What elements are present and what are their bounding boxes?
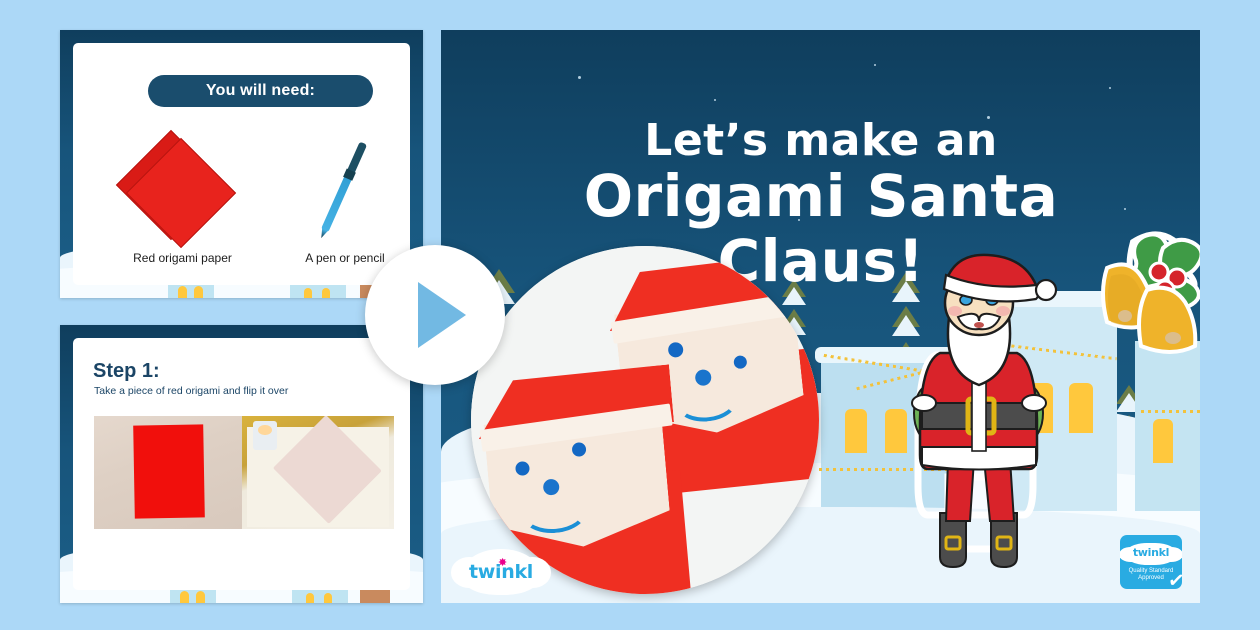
step-title: Step 1: — [93, 360, 160, 383]
check-icon: ✓ — [1167, 567, 1182, 589]
quality-standard-badge: twinkl Quality Standard Approved ✓ — [1120, 535, 1182, 589]
main-slide[interactable]: Let’s make an Origami Santa Claus! — [441, 30, 1200, 603]
play-button[interactable] — [365, 245, 505, 385]
origami-paper-icon — [120, 136, 240, 246]
badge-text-line-2: Approved — [1138, 575, 1164, 581]
bells-svg — [1089, 220, 1200, 360]
badge-cloud: twinkl — [1125, 543, 1177, 565]
slide-card: Step 1: Take a piece of red origami and … — [73, 338, 410, 590]
step-photo-row — [94, 416, 394, 529]
title-line-1: Let’s make an — [481, 118, 1161, 164]
origami-photo — [471, 246, 819, 594]
thumbnail-slide-step-1[interactable]: Step 1: Take a piece of red origami and … — [60, 325, 423, 603]
twinkl-star-icon: ✸ — [498, 556, 507, 569]
santa-claus-figure — [896, 245, 1061, 575]
you-will-need-pill: You will need: — [148, 75, 373, 107]
slide-card: You will need: Red origami paper A pen o… — [73, 43, 410, 285]
step-photo-after — [242, 416, 394, 529]
step-photo-before — [94, 416, 242, 529]
pen-icon — [310, 135, 380, 247]
badge-wordmark: twinkl — [1125, 546, 1177, 559]
twinkl-logo: twinkl ✸ — [461, 549, 541, 595]
screenshot-stage: You will need: Red origami paper A pen o… — [0, 0, 1260, 630]
thumbnail-slide-you-will-need[interactable]: You will need: Red origami paper A pen o… — [60, 30, 423, 298]
christmas-bells-decoration — [1089, 220, 1200, 360]
santa-svg — [896, 245, 1061, 575]
play-triangle-icon — [418, 282, 466, 348]
item-label-paper: Red origami paper — [95, 251, 270, 265]
step-subtitle: Take a piece of red origami and flip it … — [94, 385, 288, 397]
